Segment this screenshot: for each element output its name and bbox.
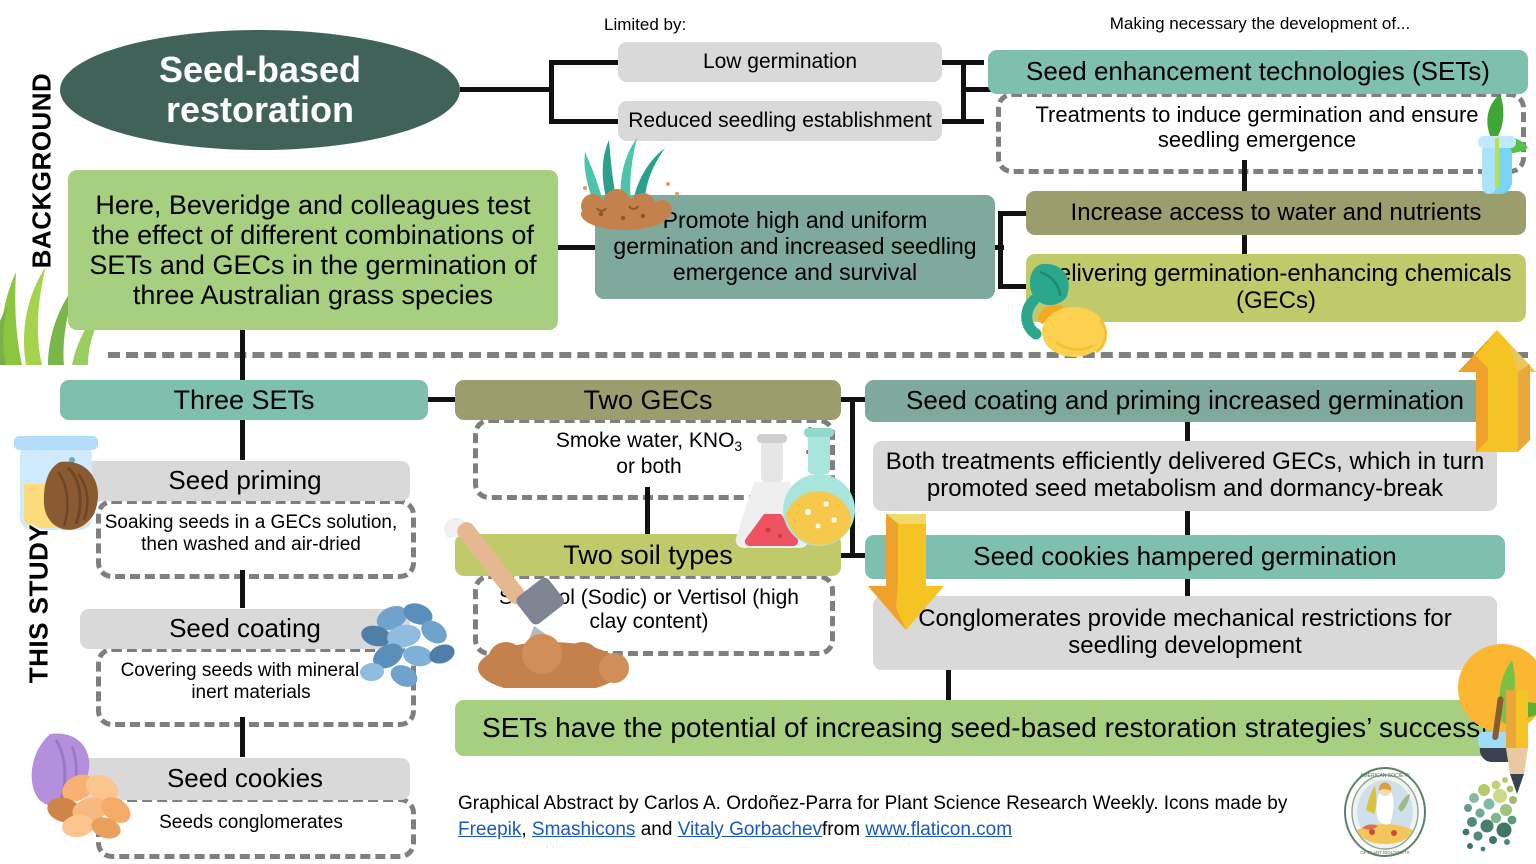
credit-link-smashicons[interactable]: Smashicons <box>532 819 636 840</box>
promote-germination-box: Promote high and uniform germination and… <box>595 195 995 299</box>
connector-results-bracket-v <box>850 397 855 558</box>
credit-link-freepik[interactable]: Freepik <box>458 819 521 840</box>
credit-link-flaticon[interactable]: www.flaticon.com <box>865 819 1012 840</box>
set-item-seed-priming: Seed priming <box>80 461 410 501</box>
two-soil-types-header: Two soil types <box>455 534 841 576</box>
connector-limit2 <box>549 119 619 124</box>
connector-results-to-conclusion <box>946 670 951 702</box>
set-item-2-note: Seeds conglomerates <box>104 801 398 845</box>
sets-header-box: Seed enhancement technologies (SETs) <box>988 50 1528 94</box>
connector-aim-to-promote <box>558 245 598 250</box>
main-title-text: Seed-based restoration <box>60 50 460 131</box>
connector-coating-to-cookies <box>240 717 245 757</box>
connector-ellipse-to-limits <box>460 87 552 92</box>
set-benefit-gecs: Delivering germination-enhancing chemica… <box>1026 254 1526 322</box>
limited-by-label: Limited by: <box>604 14 824 36</box>
soil-note-text: Sodosol (Sodic) or Vertisol (high clay c… <box>482 578 816 642</box>
dotted-leaf-logo <box>1450 772 1530 854</box>
connector-limit1 <box>549 60 619 65</box>
connector-benefit-mid <box>1242 234 1247 256</box>
gecs-note-subscript: 3 <box>734 438 742 454</box>
credits-from: from <box>822 819 865 840</box>
conclusion-box: SETs have the potential of increasing se… <box>455 700 1515 756</box>
credits-text: Graphical Abstract by Carlos A. Ordoñez-… <box>458 791 1358 842</box>
study-aim-box: Here, Beveridge and colleagues test the … <box>68 170 558 330</box>
set-item-seed-coating: Seed coating <box>80 609 410 649</box>
two-gecs-header: Two GECs <box>455 380 841 420</box>
connector-to-sets <box>961 87 991 92</box>
set-item-1-note: Covering seeds with mineral or inert mat… <box>104 651 398 713</box>
connector-aim-down <box>240 330 245 382</box>
making-necessary-label: Making necessary the development of... <box>1000 12 1520 36</box>
limitation-low-germination: Low germination <box>618 42 942 82</box>
gecs-note-line1-text: Smoke water, KNO <box>556 429 735 452</box>
connector-limits-right-bracket-v <box>961 60 966 124</box>
gecs-note-text: Smoke water, KNO3 or both <box>482 422 816 486</box>
connector-result0-head-detail <box>1185 422 1190 442</box>
graphical-abstract-canvas: BACKGROUND Seed-based restoration Limite… <box>0 0 1536 864</box>
credits-and: and <box>635 819 677 840</box>
section-label-background: BACKGROUND <box>27 61 58 281</box>
connector-sets-to-priming <box>240 420 245 460</box>
set-benefit-water-nutrients: Increase access to water and nutrients <box>1026 191 1526 235</box>
result-1-headline: Seed cookies hampered germination <box>865 535 1505 579</box>
connector-gecs-to-soil <box>645 487 650 535</box>
set-item-0-note: Soaking seeds in a GECs solution, then w… <box>104 503 398 565</box>
three-sets-header: Three SETs <box>60 380 428 420</box>
gecs-note-line2: or both <box>616 455 681 479</box>
credits-line1: Graphical Abstract by Carlos A. Ordoñez-… <box>458 793 1287 814</box>
connector-benefits-bracket-v <box>998 211 1003 289</box>
connector-priming-to-coating <box>240 570 245 608</box>
gecs-note-line1: Smoke water, KNO3 <box>556 429 742 455</box>
connector-result0-to-result1 <box>1185 511 1190 537</box>
svg-text:OF PLANT BIOLOGISTS: OF PLANT BIOLOGISTS <box>1360 850 1409 855</box>
section-label-this-study: THIS STUDY <box>24 494 55 714</box>
sets-note-text: Treatments to induce germination and ens… <box>1010 96 1504 158</box>
set-item-seed-cookies: Seed cookies <box>80 758 410 800</box>
main-title-ellipse: Seed-based restoration <box>60 30 460 150</box>
result-0-detail: Both treatments efficiently delivered GE… <box>873 441 1497 511</box>
limitation-reduced-establishment: Reduced seedling establishment <box>618 101 942 141</box>
credits-comma: , <box>521 819 526 840</box>
result-0-headline: Seed coating and priming increased germi… <box>865 380 1505 422</box>
svg-text:AMERICAN SOCIETY: AMERICAN SOCIETY <box>1360 773 1410 779</box>
section-divider-dashed <box>108 352 1528 358</box>
result-1-detail: Conglomerates provide mechanical restric… <box>873 596 1497 670</box>
connector-limits-bracket-v <box>549 62 554 124</box>
credit-link-vitaly-gorbachev[interactable]: Vitaly Gorbachev <box>678 819 822 840</box>
